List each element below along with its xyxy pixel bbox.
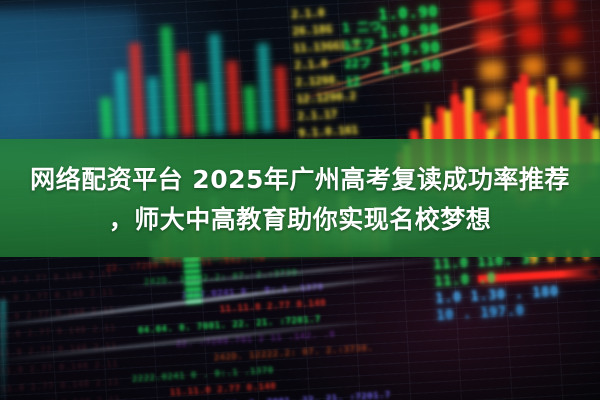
banner-image: 2.1.026.18G11.13GG1.72.1.02.1298.12.1290… bbox=[0, 0, 600, 400]
data-row: 2222.0241 0 . 0:.1 .1370 bbox=[182, 282, 324, 300]
teal-edge-strip bbox=[0, 300, 6, 400]
headline-text: 网络配资平台 2025年广州高考复读成功率推荐 ，师大中高教育助你实现名校梦想 bbox=[0, 160, 600, 240]
bottom-right-quotes: 11.0 110. 3911.0 .01.0 1.30 . 18010 . 19… bbox=[433, 247, 600, 325]
data-row: 11.11.0 2.77 0.140 bbox=[219, 298, 326, 314]
background-candles-center bbox=[92, 15, 298, 140]
data-row-dim: 11.11.0 2.77 0.140 2.11 bbox=[0, 377, 120, 395]
data-row-dim: 11.11.0 2.77 0.140 2.11 bbox=[0, 270, 113, 288]
data-row: 11.11.0 2.77 0.140 bbox=[170, 382, 277, 398]
ticker-codes-green: 1 二つ1二フ22フ12 bbox=[341, 17, 384, 91]
headline-line-1: 网络配资平台 2025年广州高考复读成功率推荐 bbox=[0, 160, 600, 200]
headline-line-2: ，师大中高教育助你实现名校梦想 bbox=[0, 200, 600, 240]
data-row-dim: 11.11.0 2.77 0.140 2.11 bbox=[0, 324, 116, 342]
data-row-dim: 11.11.0 2.77 0.140 2.11 bbox=[0, 288, 114, 306]
data-row-dim: 11.11.0 2.77 0.140 2.11 bbox=[0, 395, 121, 400]
data-row: 2222.0241 0 . 0:.1 .1370 bbox=[132, 366, 274, 384]
data-row-dim: 11.11.0 2.77 0.140 2.11 bbox=[0, 360, 118, 378]
data-row: 242D. 12222.2: 07. 2.:3730. bbox=[213, 343, 373, 362]
